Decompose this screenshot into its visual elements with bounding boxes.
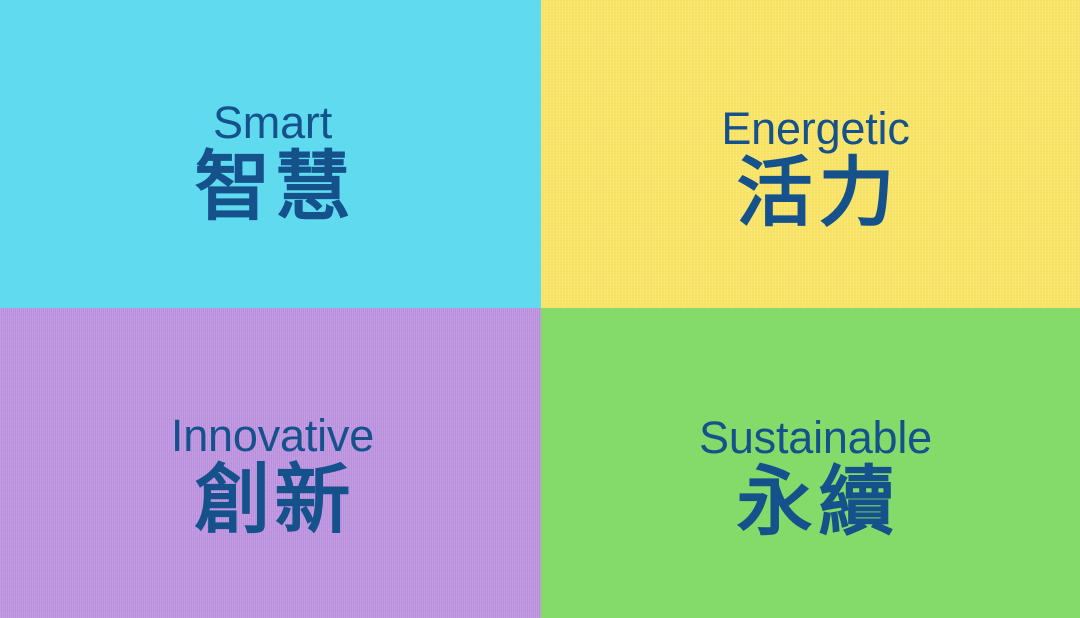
text-block-innovative: Innovative 創新 xyxy=(171,413,374,538)
label-en-smart: Smart xyxy=(213,100,332,145)
label-en-innovative: Innovative xyxy=(171,413,374,458)
text-block-smart: Smart 智慧 xyxy=(191,100,355,225)
label-cjk-sustainable: 永續 xyxy=(730,464,900,540)
label-cjk-energetic: 活力 xyxy=(731,155,901,231)
label-en-energetic: Energetic xyxy=(721,106,909,151)
quadrant-energetic: Energetic 活力 xyxy=(541,0,1080,308)
quadrant-sustainable: Sustainable 永續 xyxy=(541,308,1080,618)
label-cjk-smart: 智慧 xyxy=(191,149,355,225)
text-block-sustainable: Sustainable 永續 xyxy=(699,415,932,540)
text-block-energetic: Energetic 活力 xyxy=(721,106,909,231)
label-en-sustainable: Sustainable xyxy=(699,415,932,460)
brand-values-grid: Smart 智慧 Energetic 活力 Innovative 創新 Sust… xyxy=(0,0,1080,618)
quadrant-smart: Smart 智慧 xyxy=(0,0,541,308)
label-cjk-innovative: 創新 xyxy=(190,462,354,538)
quadrant-innovative: Innovative 創新 xyxy=(0,308,541,618)
